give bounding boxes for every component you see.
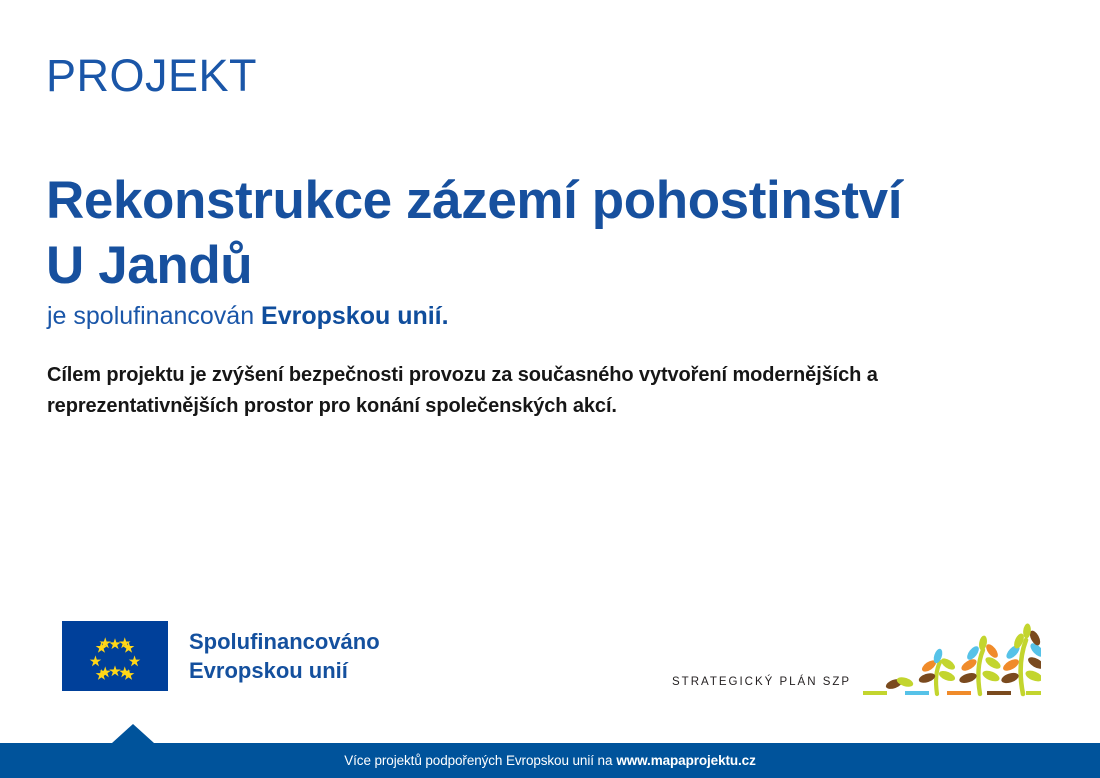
- eyebrow-label: PROJEKT: [46, 52, 257, 99]
- eu-flag-icon: [62, 621, 168, 691]
- footer-url-link[interactable]: www.mapaprojektu.cz: [616, 753, 755, 768]
- subtitle-emphasis: Evropskou unií.: [261, 302, 449, 330]
- description-line-1: Cílem projektu je zvýšení bezpečnosti pr…: [47, 364, 727, 386]
- page-title: Rekonstrukce zázemí pohostinství U Jandů: [46, 168, 1056, 299]
- footer-bar: Více projektů podpořených Evropskou unií…: [0, 743, 1100, 778]
- project-poster: PROJEKT Rekonstrukce zázemí pohostinství…: [0, 0, 1100, 778]
- subtitle-prefix: je spolufinancován: [47, 302, 254, 330]
- project-description: Cílem projektu je zvýšení bezpečnosti pr…: [47, 360, 1007, 422]
- title-line-2: U Jandů: [46, 236, 252, 295]
- footer-label: Více projektů podpořených Evropskou unií…: [344, 753, 612, 768]
- eu-emblem-caption: Spolufinancováno Evropskou unií: [189, 627, 380, 685]
- funding-subtitle: je spolufinancován Evropskou unií.: [47, 301, 449, 331]
- eu-caption-line-1: Spolufinancováno: [189, 627, 380, 656]
- footer-notch-triangle: [112, 724, 154, 743]
- footer-text: Více projektů podpořených Evropskou unií…: [0, 743, 1100, 778]
- szp-logo: STRATEGICKÝ PLÁN SZP: [672, 616, 1041, 700]
- szp-logo-label: STRATEGICKÝ PLÁN SZP: [672, 676, 851, 700]
- title-line-1: Rekonstrukce zázemí pohostinství: [46, 171, 902, 230]
- growing-plants-icon: [861, 620, 1041, 700]
- eu-caption-line-2: Evropskou unií: [189, 656, 380, 685]
- eu-emblem: Spolufinancováno Evropskou unií: [62, 621, 380, 691]
